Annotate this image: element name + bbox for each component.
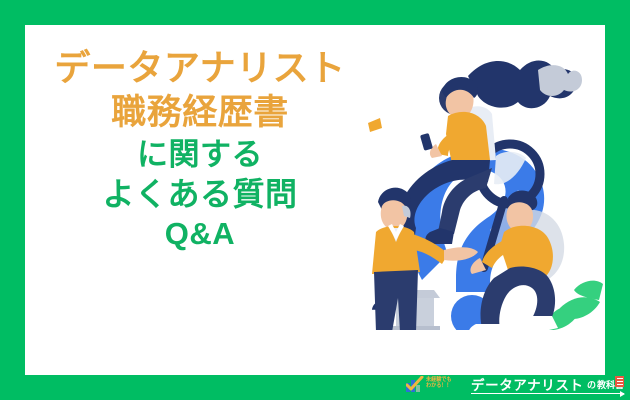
logo-brand-name: データアナリスト の 教科書	[471, 373, 624, 395]
logo-brand-main: データアナリスト	[471, 374, 584, 394]
book-badge-icon	[615, 376, 624, 387]
footer-logo[interactable]: 未経験でも わかる！！ データアナリスト の 教科書	[406, 372, 624, 396]
logo-underline-arrow	[471, 393, 624, 394]
image-canvas: データアナリスト 職務経歴書 に関する よくある質問 Q&A	[0, 0, 630, 400]
logo-tagline: 未経験でも わかる！！	[426, 378, 468, 389]
checkmark-chart-logo-icon	[406, 376, 424, 393]
logo-brand-particle: の	[587, 378, 596, 391]
headline-line-3: に関する	[25, 139, 375, 170]
headline-line-1: データアナリスト	[25, 50, 375, 86]
hero-illustration: ?	[368, 40, 603, 330]
man-pushing-figure	[469, 191, 564, 331]
logo-tagline-line-2: わかる！！	[426, 384, 466, 390]
headline-block: データアナリスト 職務経歴書 に関する よくある質問 Q&A	[25, 50, 375, 249]
headline-line-2: 職務経歴書	[25, 95, 375, 130]
orange-fleck-decoration	[368, 118, 382, 132]
headline-line-5: Q&A	[25, 218, 375, 249]
headline-line-4: よくある質問	[25, 178, 375, 210]
